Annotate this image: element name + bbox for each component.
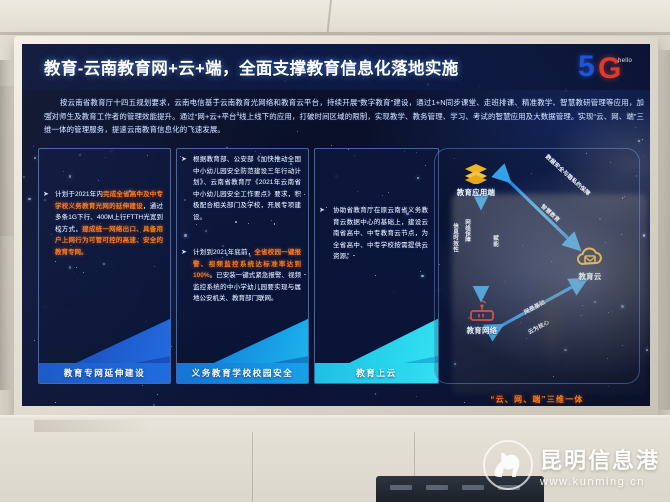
bullet-arrow-icon: ➤ bbox=[181, 154, 189, 166]
five-g-logo: 5 G hello bbox=[578, 50, 638, 84]
watermark: 昆明信息港 www.kunming.cn bbox=[483, 440, 660, 490]
router-icon bbox=[449, 299, 515, 323]
diagram-node-label: 教育云 bbox=[555, 271, 625, 282]
star-dot bbox=[416, 152, 417, 153]
star-dot bbox=[34, 340, 35, 341]
star-dot bbox=[647, 346, 648, 347]
edge-label-network-guarantee: 网络保障 bbox=[463, 219, 471, 243]
console-button-1[interactable] bbox=[390, 485, 412, 490]
star-dot bbox=[69, 175, 71, 177]
cloud-icon bbox=[555, 245, 625, 269]
wall-panel-seam-1 bbox=[252, 432, 253, 502]
wall-shadow-right bbox=[656, 50, 670, 410]
star-dot bbox=[331, 145, 332, 146]
diagram-node-label: 教育应用端 bbox=[443, 187, 509, 198]
watermark-text: 昆明信息港 www.kunming.cn bbox=[540, 443, 660, 488]
star-dot bbox=[76, 267, 77, 268]
star-dot bbox=[69, 266, 71, 268]
card-body-text: 协助省教育厅在原云南省义务教育云数据中心的基础上，建设云南省高中、中专教育云节点… bbox=[333, 205, 428, 263]
star-dot bbox=[375, 393, 377, 395]
card-education-private-network[interactable]: ➤ 计划于2021年内完成全省高中及中专学校义务教育光网的延伸建设，通过多条1G… bbox=[38, 148, 171, 384]
diagram-caption: “云、网、端”三维一体 bbox=[435, 394, 639, 405]
bullet-arrow-icon: ➤ bbox=[43, 189, 51, 201]
star-dot bbox=[420, 271, 421, 272]
star-dot bbox=[34, 157, 36, 159]
card-body-text: 计划于2021年内完成全省高中及中专学校义务教育光网的延伸建设，通过多条1G下行… bbox=[55, 189, 163, 259]
star-dot bbox=[154, 266, 156, 268]
star-dot bbox=[643, 234, 645, 236]
star-dot bbox=[23, 176, 25, 178]
star-dot bbox=[638, 140, 640, 142]
star-dot bbox=[382, 195, 383, 196]
star-dot bbox=[79, 154, 81, 156]
star-dot bbox=[404, 151, 405, 152]
star-dot bbox=[646, 349, 648, 351]
star-dot bbox=[147, 155, 148, 156]
star-dot bbox=[608, 386, 609, 387]
wall-ledge-smudge bbox=[34, 420, 154, 432]
plain-text: 协助省教育厅在原云南省义务教育云数据中心的基础上，建设云南省高中、中专教育云节点… bbox=[333, 207, 428, 260]
star-dot bbox=[255, 151, 256, 152]
wall-upper bbox=[0, 0, 670, 34]
star-dot bbox=[417, 177, 419, 179]
plain-text: 。已安装一键式紧急报警、视频监控系统的中小学幼儿园要实现与属地公安机关、教育部门… bbox=[193, 272, 301, 302]
plain-text: 计划于2021年内 bbox=[55, 191, 103, 198]
star-dot bbox=[184, 234, 186, 236]
star-dot bbox=[304, 194, 305, 195]
star-dot bbox=[28, 198, 30, 200]
star-dot bbox=[170, 184, 171, 185]
edge-label-empowerment: 赋能 bbox=[491, 235, 499, 247]
diagram-node-education-cloud[interactable]: 教育云 bbox=[555, 245, 625, 282]
star-dot bbox=[153, 404, 155, 406]
room-scene: 教育-云南教育网+云+端，全面支撑教育信息化落地实施 5 G hello 按云南… bbox=[0, 0, 670, 502]
star-dot bbox=[142, 385, 143, 386]
diagram-node-label: 教育网络 bbox=[449, 325, 515, 336]
star-dot bbox=[354, 155, 355, 156]
star-dot bbox=[421, 275, 423, 277]
five-g-hello-text: hello bbox=[618, 58, 632, 64]
layers-icon bbox=[443, 161, 509, 185]
card-footer-label: 教育专网延伸建设 bbox=[39, 363, 170, 383]
card-body-text-2: 计划到2021年底前，全省校园一键报警、视频监控系统达标准率达到100%。已安装… bbox=[193, 247, 301, 305]
star-dot bbox=[304, 274, 306, 276]
watermark-title: 昆明信息港 bbox=[540, 443, 660, 475]
presentation-slide: 教育-云南教育网+云+端，全面支撑教育信息化落地实施 5 G hello 按云南… bbox=[22, 44, 650, 406]
cloud-network-edge-diagram: 教育应用端 教育云 bbox=[434, 148, 640, 384]
star-dot bbox=[184, 199, 186, 201]
star-dot bbox=[196, 224, 197, 225]
star-dot bbox=[157, 394, 158, 395]
slide-title: 教育-云南教育网+云+端，全面支撑教育信息化落地实施 bbox=[44, 55, 459, 79]
star-dot bbox=[63, 171, 65, 173]
star-dot bbox=[642, 139, 643, 140]
slide-title-bar: 教育-云南教育网+云+端，全面支撑教育信息化落地实施 5 G hello bbox=[22, 44, 650, 90]
star-dot bbox=[388, 192, 389, 193]
diagram-node-education-application-edge[interactable]: 教育应用端 bbox=[443, 161, 509, 198]
card-footer-label: 教育上云 bbox=[315, 363, 438, 383]
star-dot bbox=[33, 146, 34, 147]
watermark-url: www.kunming.cn bbox=[540, 476, 660, 488]
bullet-arrow-icon-2: ➤ bbox=[181, 247, 189, 259]
card-education-to-cloud[interactable]: ➤ 协助省教育厅在原云南省义务教育云数据中心的基础上，建设云南省高中、中专教育云… bbox=[314, 148, 439, 384]
console-button-3[interactable] bbox=[462, 485, 484, 490]
star-dot bbox=[51, 234, 53, 236]
star-dot bbox=[375, 275, 376, 276]
bullet-arrow-icon: ➤ bbox=[319, 205, 327, 217]
star-dot bbox=[171, 346, 172, 347]
display-screen: 教育-云南教育网+云+端，全面支撑教育信息化落地实施 5 G hello 按云南… bbox=[22, 44, 650, 406]
card-body-text: 根据教育部、公安部《加快推动全国中小幼儿园安全防范建设三年行动计划》、云南省教育… bbox=[193, 154, 301, 224]
star-dot bbox=[98, 180, 99, 181]
plain-text: 根据教育部、公安部《加快推动全国中小幼儿园安全防范建设三年行动计划》、云南省教育… bbox=[193, 156, 301, 221]
console-button-2[interactable] bbox=[426, 485, 448, 490]
plain-text: 计划到2021年底前， bbox=[193, 249, 254, 256]
star-dot bbox=[425, 165, 426, 166]
star-dot bbox=[105, 157, 107, 159]
star-dot bbox=[348, 149, 349, 150]
star-dot bbox=[103, 263, 105, 265]
star-dot bbox=[55, 402, 56, 403]
card-footer-label: 义务教育学校校园安全 bbox=[177, 363, 308, 383]
star-dot bbox=[357, 191, 358, 192]
star-dot bbox=[416, 396, 417, 397]
horse-icon bbox=[483, 440, 533, 490]
star-dot bbox=[55, 261, 56, 262]
card-compulsory-education-campus-safety[interactable]: ➤ 根据教育部、公安部《加快推动全国中小幼儿园安全防范建设三年行动计划》、云南省… bbox=[176, 148, 309, 384]
wall-seam bbox=[0, 32, 670, 35]
star-dot bbox=[644, 155, 645, 156]
wall-display[interactable]: 教育-云南教育网+云+端，全面支撑教育信息化落地实施 5 G hello 按云南… bbox=[14, 36, 658, 424]
edge-label-information-timeliness: 信息时效性 bbox=[451, 223, 459, 253]
diagram-node-education-network[interactable]: 教育网络 bbox=[449, 299, 515, 336]
five-g-digit: 5 bbox=[578, 50, 595, 84]
star-dot bbox=[205, 230, 207, 232]
slide-intro-paragraph: 按云南省教育厅十四五规划要求，云南电信基于云南教育光网络和教育云平台，持续开展“… bbox=[44, 96, 644, 137]
star-dot bbox=[83, 272, 84, 273]
